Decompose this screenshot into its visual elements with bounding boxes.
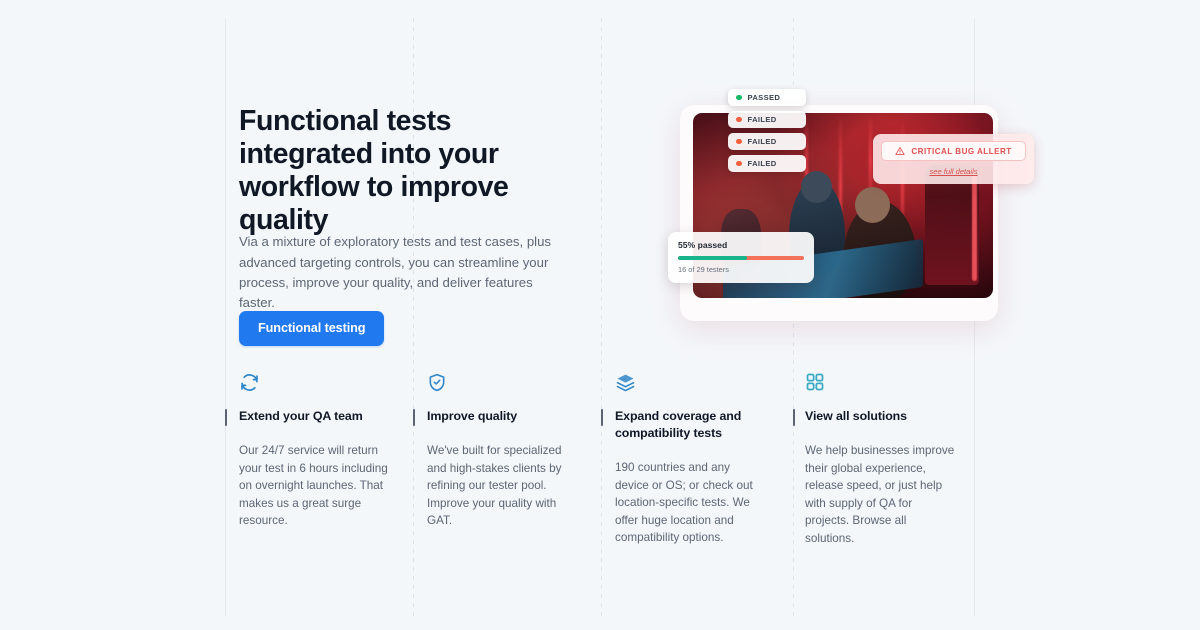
critical-bug-alert-card: CRITICAL BUG ALLERT see full details: [873, 134, 1034, 184]
layers-icon: [615, 372, 767, 394]
page-root: Functional tests integrated into your wo…: [0, 0, 1200, 630]
status-pill[interactable]: FAILED: [728, 155, 806, 172]
status-pill-label: FAILED: [748, 115, 777, 124]
status-pill-label: FAILED: [748, 159, 777, 168]
page-title: Functional tests integrated into your wo…: [239, 105, 579, 237]
functional-testing-button[interactable]: Functional testing: [239, 311, 384, 346]
test-status-list: PASSED FAILED FAILED FAILED: [728, 89, 806, 177]
status-pill-label: PASSED: [748, 93, 781, 102]
warning-triangle-icon: [895, 146, 905, 156]
pass-rate-bar-fill: [678, 256, 747, 260]
status-dot-fail-icon: [736, 117, 742, 123]
feature-title: Extend your QA team: [239, 408, 391, 425]
pass-rate-subtitle: 16 of 29 testers: [678, 265, 804, 274]
feature-body: 190 countries and any device or OS; or c…: [615, 459, 767, 547]
status-pill[interactable]: FAILED: [728, 111, 806, 128]
pass-rate-card: 55% passed 16 of 29 testers: [668, 232, 814, 283]
grid-squares-icon: [805, 372, 957, 394]
pass-rate-bar: [678, 256, 804, 260]
pass-rate-title: 55% passed: [678, 240, 804, 250]
status-pill[interactable]: FAILED: [728, 133, 806, 150]
hero-visual: PASSED FAILED FAILED FAILED: [668, 84, 998, 309]
see-full-details-link[interactable]: see full details: [881, 167, 1026, 176]
feature-column-extend-qa-team[interactable]: Extend your QA team Our 24/7 service wil…: [239, 372, 391, 530]
column-rail-3: [601, 18, 602, 616]
gaming-chair-trim: [972, 169, 977, 281]
alert-headline-row: CRITICAL BUG ALLERT: [881, 141, 1026, 161]
shield-check-icon: [427, 372, 579, 394]
column-rail-1: [225, 18, 226, 616]
feature-body: We've built for specialized and high-sta…: [427, 442, 579, 530]
status-dot-fail-icon: [736, 161, 742, 167]
feature-accent-marker-3: [601, 409, 603, 426]
feature-accent-marker-4: [793, 409, 795, 426]
feature-column-expand-coverage[interactable]: Expand coverage and compatibility tests …: [615, 372, 767, 547]
feature-column-view-all-solutions[interactable]: View all solutions We help businesses im…: [805, 372, 957, 548]
feature-title: Expand coverage and compatibility tests: [615, 408, 767, 442]
alert-title: CRITICAL BUG ALLERT: [911, 147, 1011, 156]
feature-title: View all solutions: [805, 408, 957, 425]
feature-accent-marker-1: [225, 409, 227, 426]
feature-title: Improve quality: [427, 408, 579, 425]
status-pill[interactable]: PASSED: [728, 89, 806, 106]
status-dot-pass-icon: [736, 95, 742, 101]
status-pill-label: FAILED: [748, 137, 777, 146]
refresh-sync-icon: [239, 372, 391, 394]
feature-column-improve-quality[interactable]: Improve quality We've built for speciali…: [427, 372, 579, 530]
feature-body: Our 24/7 service will return your test i…: [239, 442, 391, 530]
hero-description: Via a mixture of exploratory tests and t…: [239, 232, 569, 314]
feature-accent-marker-2: [413, 409, 415, 426]
person-right-head: [855, 187, 890, 223]
status-dot-fail-icon: [736, 139, 742, 145]
feature-body: We help businesses improve their global …: [805, 442, 957, 548]
